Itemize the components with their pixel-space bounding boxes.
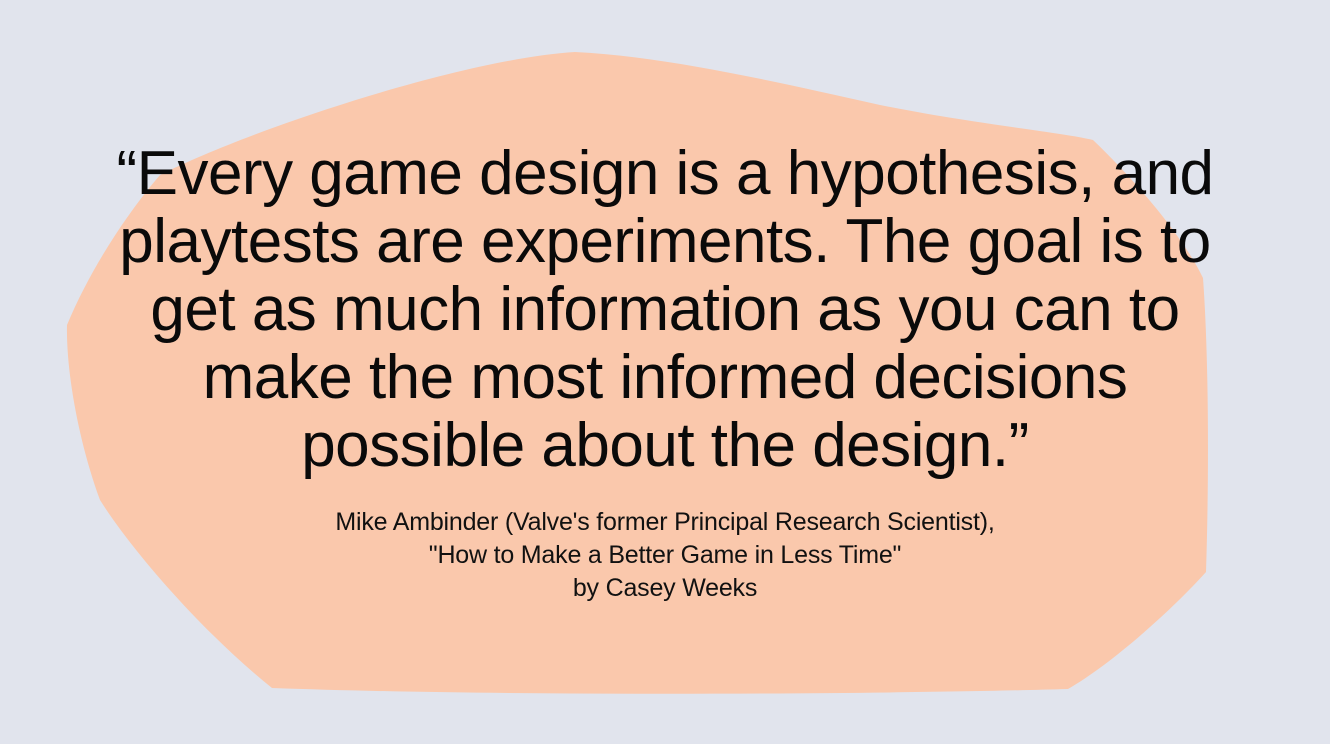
attribution-source-title-line: "How to Make a Better Game in Less Time"	[115, 539, 1215, 572]
quote-text: “Every game design is a hypothesis, and …	[115, 140, 1215, 480]
slide-canvas: “Every game design is a hypothesis, and …	[0, 0, 1330, 744]
attribution-block: Mike Ambinder (Valve's former Principal …	[115, 506, 1215, 605]
attribution-speaker-line: Mike Ambinder (Valve's former Principal …	[115, 506, 1215, 539]
text-content-wrapper: “Every game design is a hypothesis, and …	[0, 0, 1330, 744]
attribution-author-line: by Casey Weeks	[115, 572, 1215, 605]
